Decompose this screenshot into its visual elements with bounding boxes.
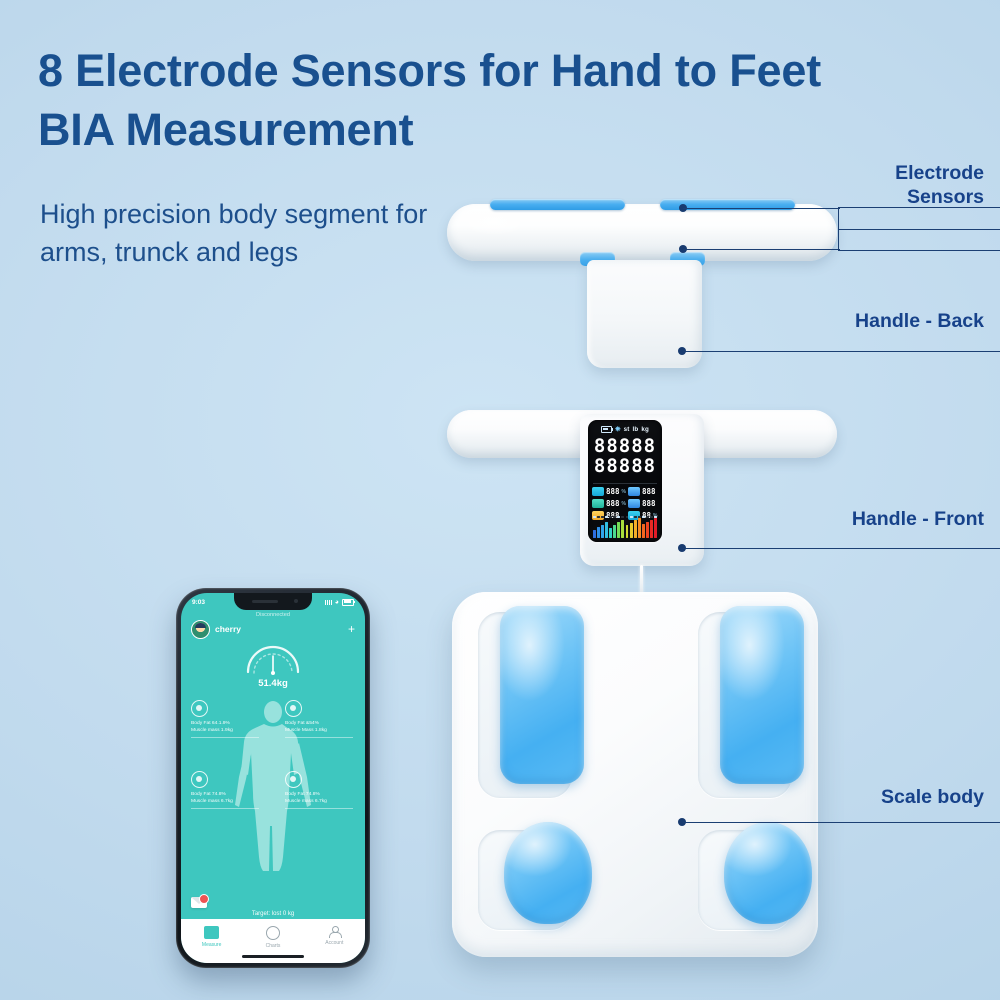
led-metric-value: 888 <box>642 500 656 508</box>
led-tick <box>650 516 653 518</box>
pad-highlight <box>500 606 584 784</box>
led-tick <box>597 516 600 518</box>
led-tick <box>630 516 633 518</box>
led-metric-body-fat: 888 % <box>592 487 626 496</box>
electrode-strip-left <box>490 199 625 210</box>
led-tick <box>613 516 616 518</box>
status-time: 9:03 <box>192 599 205 606</box>
battery-icon <box>342 599 354 606</box>
led-display: ⎈ st lb kg 88888 88888 888 % 888 <box>588 420 662 542</box>
handle-back-unit <box>447 196 837 371</box>
led-metric-bmi: 888 <box>628 487 658 496</box>
led-status-row: ⎈ st lb kg <box>588 424 662 435</box>
target-text: Target: lost 0 kg <box>181 911 365 917</box>
led-tick <box>642 516 645 518</box>
battery-icon <box>601 426 612 433</box>
metric-line2: Muscle mass 6.7kg <box>191 798 263 805</box>
led-bar-segment <box>650 520 653 538</box>
account-icon <box>328 926 341 937</box>
led-bar-segment <box>646 522 649 538</box>
callout-line-scale-body <box>683 822 1000 823</box>
heart-icon <box>628 499 640 508</box>
led-metric-unit: % <box>622 501 626 507</box>
leg-right-icon <box>285 771 302 788</box>
led-bar-segment <box>654 518 657 538</box>
led-bar-segment <box>621 520 624 538</box>
user-name: cherry <box>215 624 241 634</box>
body-fat-icon <box>592 487 604 496</box>
callout-line-electrode-sensors <box>838 229 1000 230</box>
electrode-pad-bottom-left <box>504 822 592 924</box>
pad-highlight <box>504 822 592 924</box>
metric-top-left: Body Fat 64.1.9% Muscle mass 1.9kg <box>191 700 263 738</box>
led-bar-ticks <box>593 516 657 519</box>
tab-charts[interactable]: Charts <box>250 926 296 949</box>
tab-label: Account <box>311 940 357 946</box>
avatar[interactable] <box>191 620 210 639</box>
callout-label-handle-back: Handle - Back <box>724 310 984 334</box>
connection-status: Disconnected <box>181 612 365 618</box>
led-metric-muscle: 888 % <box>592 499 626 508</box>
tab-label: Charts <box>250 943 296 949</box>
muscle-icon <box>592 499 604 508</box>
led-bar-segment <box>626 525 629 538</box>
callout-line-electrode-bottom <box>683 249 840 250</box>
unit-st: st <box>624 426 630 433</box>
led-tick <box>617 516 620 518</box>
scale-body-unit <box>452 592 818 957</box>
callout-line-electrode-top <box>683 208 840 209</box>
callout-label-handle-front: Handle - Front <box>724 508 984 532</box>
led-bar-segment <box>634 520 637 538</box>
weight-gauge-icon <box>242 642 304 676</box>
led-tick <box>626 516 629 518</box>
bluetooth-icon: ⎈ <box>615 426 621 433</box>
unit-kg: kg <box>641 426 649 433</box>
led-tick <box>601 516 604 518</box>
phone-notch <box>234 593 312 610</box>
metric-underline <box>285 737 353 738</box>
leg-left-icon <box>191 771 208 788</box>
led-digit-area: 88888 88888 <box>591 437 659 476</box>
led-tick <box>593 516 596 518</box>
led-bar-segment <box>605 522 608 538</box>
led-bar-segment <box>597 527 600 538</box>
metric-mid-left: Body Fat 74.8% Muscle mass 6.7kg <box>191 771 263 809</box>
led-bar-segment <box>601 525 604 538</box>
unit-lb: lb <box>632 426 638 433</box>
app-screen: 9:03 ◕ Disconnected cherry + 51.4kg <box>181 593 365 963</box>
arm-right-icon <box>285 700 302 717</box>
plus-icon[interactable]: + <box>348 623 355 635</box>
metric-line1: Body Fat 64.1.9% <box>191 720 263 727</box>
electrode-pad-bottom-right <box>724 822 812 924</box>
electrode-pad-top-left <box>500 606 584 784</box>
led-digits-row2: 88888 <box>591 457 659 476</box>
metric-underline <box>191 808 259 809</box>
metric-line2: Muscle mass 6.7kg <box>285 798 357 805</box>
callout-label-scale-body: Scale body <box>724 786 984 810</box>
infographic-canvas: 8 Electrode Sensors for Hand to Feet BIA… <box>0 0 1000 1000</box>
tab-measure[interactable]: Measure <box>189 926 235 948</box>
callout-line-handle-back <box>683 351 1000 352</box>
led-tick <box>605 516 608 518</box>
pad-highlight <box>724 822 812 924</box>
wifi-icon: ◕ <box>335 599 339 606</box>
led-bar-segment <box>617 522 620 538</box>
metric-line1: Body Fat &54% <box>285 720 357 727</box>
mail-icon[interactable] <box>191 897 207 909</box>
weight-value: 51.4kg <box>181 678 365 689</box>
callout-line-handle-front <box>683 548 1000 549</box>
led-bar-segment <box>642 524 645 538</box>
led-digits-row1: 88888 <box>591 437 659 456</box>
metric-line2: Muscle Mass 1.8kg <box>285 727 357 734</box>
metric-underline <box>285 808 353 809</box>
phone-mockup: 9:03 ◕ Disconnected cherry + 51.4kg <box>176 588 370 968</box>
electrode-pad-top-right <box>720 606 804 784</box>
tab-label: Measure <box>189 942 235 948</box>
led-bar-segment <box>609 528 612 538</box>
metric-line2: Muscle mass 1.9kg <box>191 727 263 734</box>
led-tick <box>634 516 637 518</box>
metric-line1: Body Fat 74.8% <box>191 791 263 798</box>
tab-account[interactable]: Account <box>311 926 357 946</box>
led-bar-graph <box>593 520 657 538</box>
page-title: 8 Electrode Sensors for Hand to Feet BIA… <box>38 42 868 159</box>
pad-highlight <box>720 606 804 784</box>
bmi-icon <box>628 487 640 496</box>
signal-bars-icon <box>325 600 332 605</box>
callout-label-electrode-sensors: Electrode Sensors <box>754 162 984 210</box>
led-bar-segment <box>613 525 616 538</box>
metric-top-right: Body Fat &54% Muscle Mass 1.8kg <box>285 700 357 738</box>
metric-line1: Body Fat 74.8% <box>285 791 357 798</box>
led-tick <box>646 516 649 518</box>
led-tick <box>609 516 612 518</box>
measure-icon <box>204 926 219 939</box>
metric-mid-right: Body Fat 74.8% Muscle mass 6.7kg <box>285 771 357 809</box>
led-metric-unit: % <box>622 489 626 495</box>
metric-underline <box>191 737 259 738</box>
led-divider <box>593 483 657 484</box>
led-metric-value: 888 <box>606 500 620 508</box>
home-indicator <box>242 955 304 958</box>
led-metric-value: 888 <box>642 488 656 496</box>
handle-back-bar <box>447 204 837 261</box>
arm-left-icon <box>191 700 208 717</box>
charts-icon <box>266 926 280 940</box>
app-header: cherry + <box>191 619 355 639</box>
led-metric-heart: 888 <box>628 499 658 508</box>
led-metric-value: 888 <box>606 488 620 496</box>
led-tick <box>621 516 624 518</box>
led-bar-segment <box>638 518 641 538</box>
led-bar-segment <box>593 530 596 538</box>
page-subtitle: High precision body segment for arms, tr… <box>40 195 470 272</box>
led-bar-segment <box>630 523 633 538</box>
